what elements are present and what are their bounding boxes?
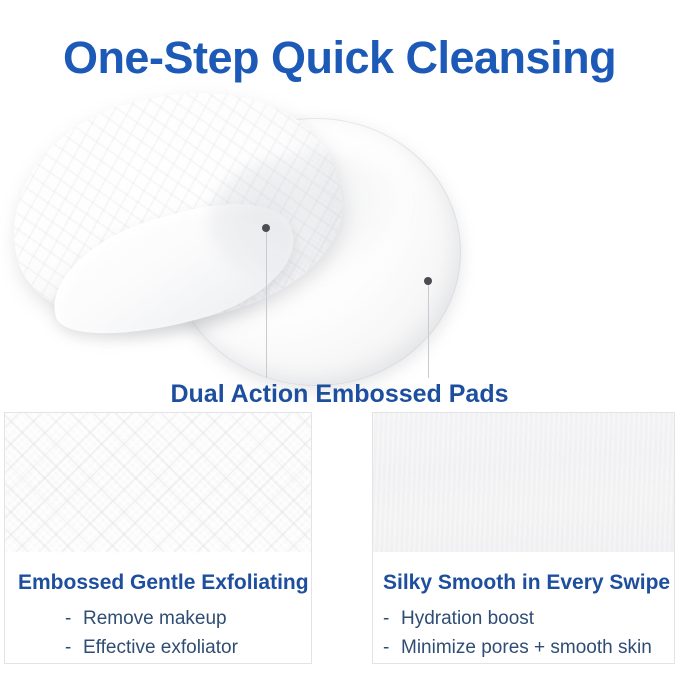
- list-item: -Effective exfoliator: [65, 633, 238, 662]
- hero-caption: Dual Action Embossed Pads: [0, 380, 679, 409]
- callout-line-smooth: [428, 281, 429, 378]
- hero-product-image: [0, 96, 679, 386]
- list-item: -Hydration boost: [383, 604, 652, 633]
- bullet-text: Remove makeup: [83, 608, 227, 629]
- bullet-dash: -: [383, 633, 401, 662]
- feature-panel-embossed: Embossed Gentle Exfoliating -Remove make…: [4, 412, 312, 664]
- panel-heading-smooth: Silky Smooth in Every Swipe: [383, 571, 670, 595]
- smooth-texture-image: [373, 413, 674, 552]
- feature-panel-smooth: Silky Smooth in Every Swipe -Hydration b…: [372, 412, 675, 664]
- panel-heading-embossed: Embossed Gentle Exfoliating: [18, 571, 309, 595]
- bullet-text: Effective exfoliator: [83, 637, 238, 658]
- callout-dot-embossed: [262, 224, 270, 232]
- bullet-list-embossed: -Remove makeup -Effective exfoliator: [65, 604, 238, 662]
- embossed-texture-image: [5, 413, 311, 552]
- callout-line-embossed: [266, 228, 267, 378]
- bullet-dash: -: [65, 633, 83, 662]
- bullet-dash: -: [383, 604, 401, 633]
- pad-contact-shadow: [208, 152, 418, 292]
- bullet-list-smooth: -Hydration boost -Minimize pores + smoot…: [383, 604, 652, 662]
- callout-dot-smooth: [424, 277, 432, 285]
- page-title: One-Step Quick Cleansing: [0, 30, 679, 86]
- bullet-text: Minimize pores + smooth skin: [401, 637, 652, 658]
- list-item: -Minimize pores + smooth skin: [383, 633, 652, 662]
- bullet-dash: -: [65, 604, 83, 633]
- list-item: -Remove makeup: [65, 604, 238, 633]
- product-infographic: One-Step Quick Cleansing Dual Action Emb…: [0, 0, 679, 679]
- bullet-text: Hydration boost: [401, 608, 534, 629]
